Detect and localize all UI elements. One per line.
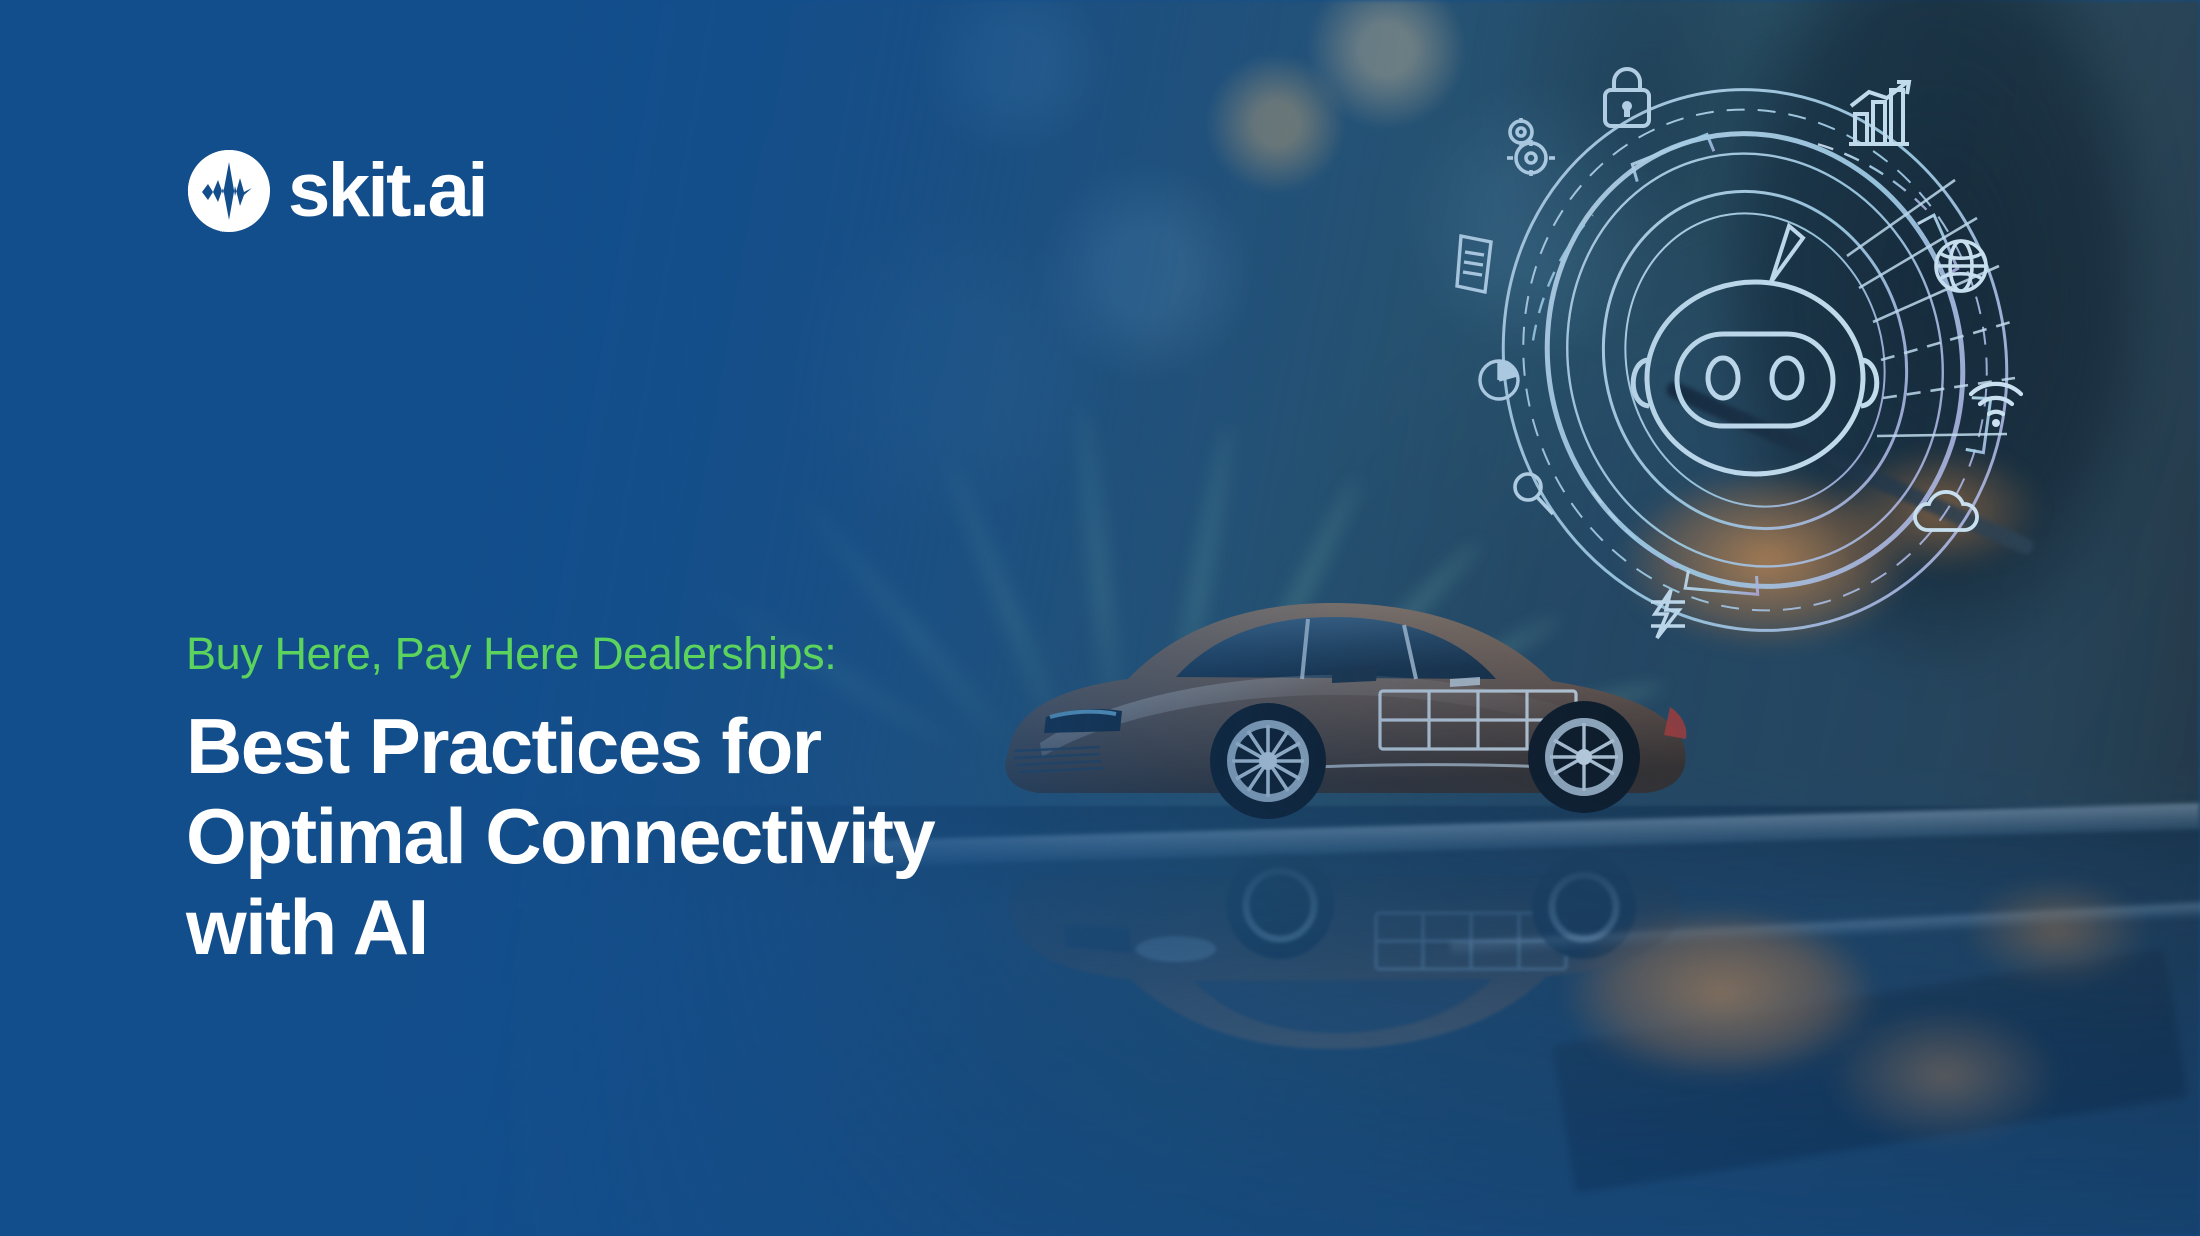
brand-logo[interactable]: skit.ai bbox=[186, 148, 486, 234]
eyebrow-text: Buy Here, Pay Here Dealerships: bbox=[186, 630, 1306, 679]
headline-line-1: Best Practices for bbox=[186, 701, 1306, 791]
headline-line-2: Optimal Connectivity bbox=[186, 791, 1306, 881]
speech-bubble-waveform-logo bbox=[186, 148, 272, 234]
page-title: Best Practices for Optimal Connectivity … bbox=[186, 701, 1306, 972]
brand-name: skit.ai bbox=[288, 157, 486, 225]
headline-block: Buy Here, Pay Here Dealerships: Best Pra… bbox=[186, 630, 1306, 972]
headline-line-3: with AI bbox=[186, 882, 1306, 972]
banner-content: skit.ai Buy Here, Pay Here Dealerships: … bbox=[0, 0, 2200, 1236]
blog-banner: skit.ai Buy Here, Pay Here Dealerships: … bbox=[0, 0, 2200, 1236]
